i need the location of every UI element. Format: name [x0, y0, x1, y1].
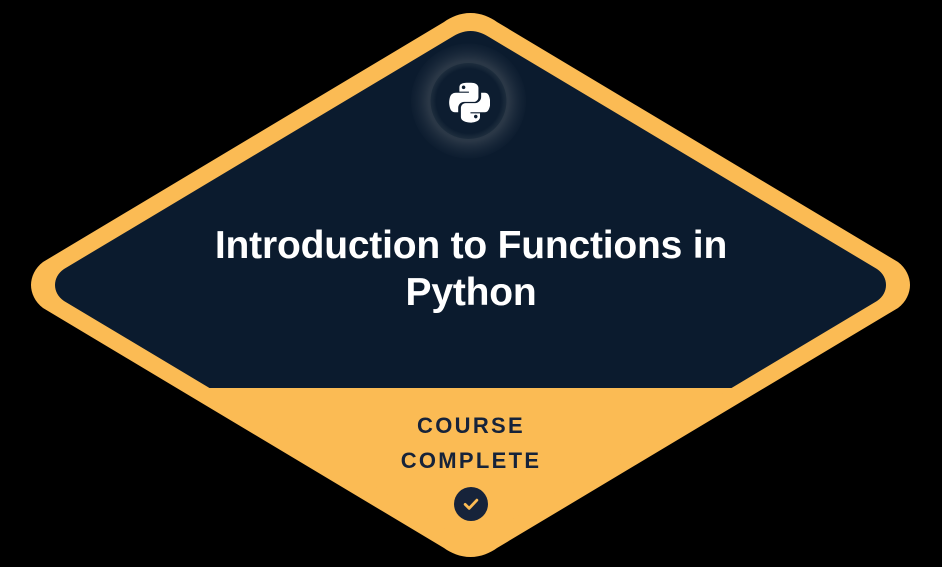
course-completion-badge: Introduction to Functions in Python COUR… [0, 0, 942, 567]
status-line-course: COURSE [221, 408, 721, 443]
check-icon [461, 494, 481, 514]
status-line-complete: COMPLETE [221, 443, 721, 478]
completion-status: COURSE COMPLETE [221, 408, 721, 521]
course-title: Introduction to Functions in Python [151, 222, 791, 316]
check-circle-icon [454, 487, 488, 521]
python-emblem [411, 44, 526, 159]
python-logo-icon [448, 81, 490, 123]
